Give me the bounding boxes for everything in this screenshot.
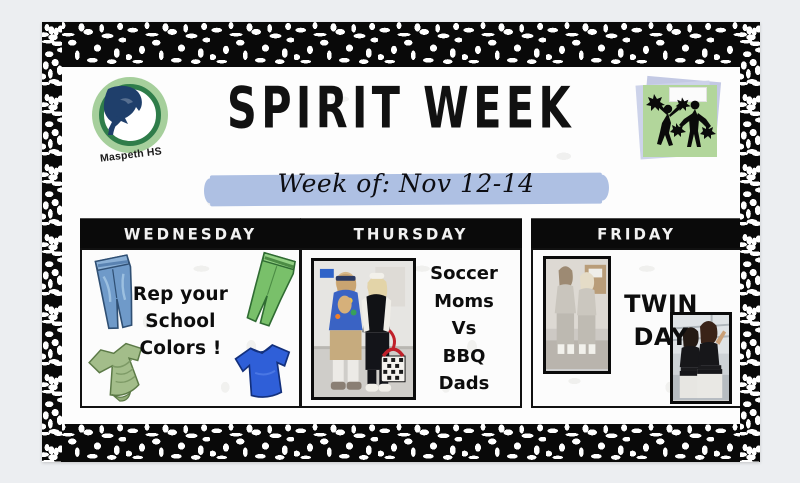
day-header-wednesday: WEDNESDAY — [80, 218, 301, 248]
thursday-students-photo — [311, 258, 416, 400]
thursday-line-1: Soccer — [414, 260, 514, 288]
day-header-thursday: THURSDAY — [300, 218, 522, 248]
flyer-stage: Maspeth HS SPIRIT WEEK Week of: Nov 12-1… — [0, 0, 800, 483]
day-body-wednesday: Rep your School Colors ! — [80, 248, 301, 408]
friday-line-1: TWIN — [605, 288, 717, 321]
day-panel-wednesday[interactable]: WEDNESDAY — [80, 219, 301, 408]
day-body-friday: TWIN DAY — [531, 248, 740, 408]
page-title: SPIRIT WEEK — [103, 75, 700, 142]
friday-gray-photo-art — [546, 259, 608, 369]
cheerleader-note-decoration — [634, 77, 726, 163]
wednesday-line-1: Rep your — [108, 282, 253, 309]
cheerleader-silhouette-icon — [643, 89, 717, 155]
friday-line-2: DAY — [605, 321, 717, 354]
thursday-line-3: Vs — [414, 315, 514, 343]
animal-print-border-top — [42, 22, 760, 67]
friday-theme-text: TWIN DAY — [605, 288, 717, 354]
thursday-theme-text: Soccer Moms Vs BBQ Dads — [414, 260, 514, 398]
thursday-line-2: Moms — [414, 288, 514, 316]
thursday-photo-art — [314, 261, 413, 400]
thursday-line-4: BBQ — [414, 343, 514, 371]
day-panel-friday[interactable]: FRIDAY — [531, 219, 740, 408]
day-header-friday: FRIDAY — [531, 218, 740, 248]
animal-print-border-right — [740, 22, 760, 462]
wednesday-line-3: Colors ! — [108, 336, 253, 363]
wednesday-theme-text: Rep your School Colors ! — [108, 282, 253, 362]
animal-print-border-bottom — [42, 424, 760, 462]
animal-print-border-left — [42, 22, 62, 462]
day-panel-thursday[interactable]: THURSDAY — [300, 219, 522, 408]
flyer-content-sheet: Maspeth HS SPIRIT WEEK Week of: Nov 12-1… — [62, 67, 740, 424]
wednesday-line-2: School — [108, 309, 253, 336]
thursday-line-5: Dads — [414, 370, 514, 398]
day-panels-row: WEDNESDAY — [62, 219, 740, 419]
friday-twins-photo-gray — [543, 256, 611, 374]
day-body-thursday: Soccer Moms Vs BBQ Dads — [300, 248, 522, 408]
spirit-week-flyer-card: Maspeth HS SPIRIT WEEK Week of: Nov 12-1… — [42, 22, 760, 462]
subtitle-date-range: Week of: Nov 12-14 — [210, 169, 602, 198]
